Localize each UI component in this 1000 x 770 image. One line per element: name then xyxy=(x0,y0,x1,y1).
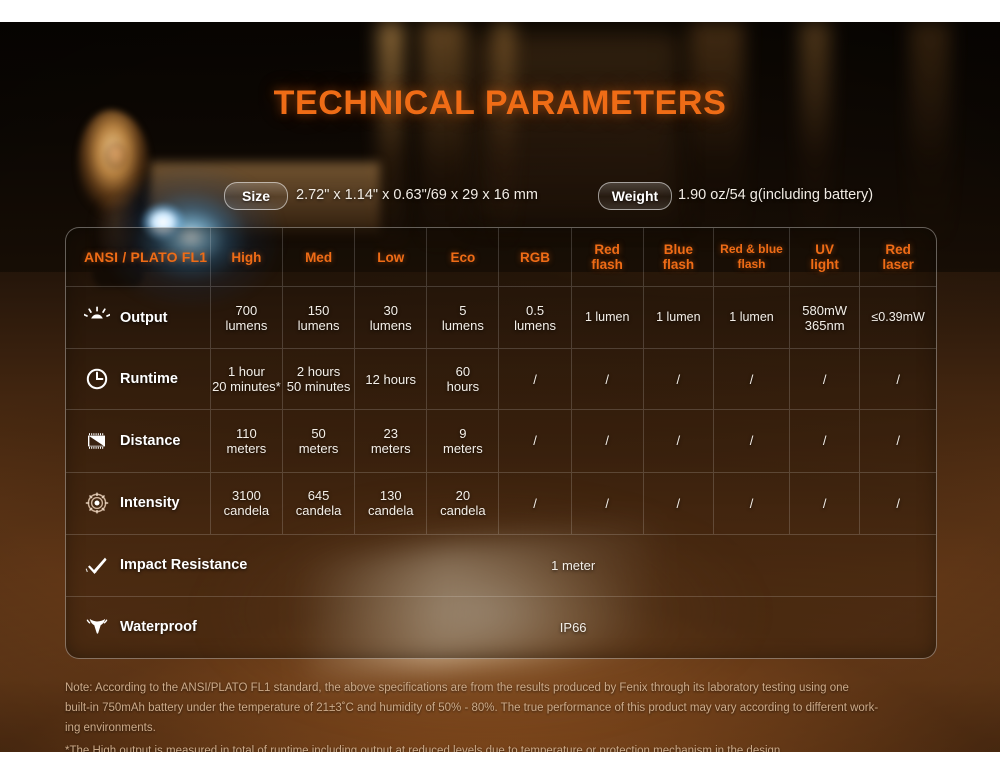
cell-runtime-red-laser: / xyxy=(860,349,936,410)
size-badge: Size xyxy=(224,182,288,210)
footnote: Note: According to the ANSI/PLATO FL1 st… xyxy=(65,678,945,752)
impact-check-icon xyxy=(84,553,110,577)
row-label-text: Waterproof xyxy=(120,619,197,635)
cell-intensity-red-flash: / xyxy=(571,472,643,534)
cell-runtime-med: 2 hours50 minutes xyxy=(282,349,354,410)
cell-intensity-med: 645candela xyxy=(282,472,354,534)
row-label-waterproof: Waterproof xyxy=(66,596,210,658)
row-label-impact-resistance: Impact Resistance xyxy=(66,534,210,596)
cell-runtime-red-flash: / xyxy=(571,349,643,410)
cell-distance-uv: / xyxy=(790,410,860,472)
table-row: Waterproof IP66 xyxy=(66,596,936,658)
cell-output-med: 150lumens xyxy=(282,287,354,349)
header-red-blue-flash: Red & blueflash xyxy=(713,228,789,287)
spec-summary-row: Size 2.72" x 1.14" x 0.63"/69 x 29 x 16 … xyxy=(0,182,1000,210)
cell-distance-blue-flash: / xyxy=(643,410,713,472)
cell-intensity-high: 3100candela xyxy=(210,472,282,534)
cell-output-eco: 5lumens xyxy=(427,287,499,349)
cell-runtime-blue-flash: / xyxy=(643,349,713,410)
clock-icon xyxy=(84,367,110,391)
cell-runtime-rgb: / xyxy=(499,349,571,410)
technical-parameters-table: ANSI / PLATO FL1 High Med Low Eco RGB Re… xyxy=(65,227,937,659)
row-label-runtime: Runtime xyxy=(66,349,210,410)
row-label-text: Impact Resistance xyxy=(120,557,247,573)
product-spec-banner: TECHNICAL PARAMETERS Size 2.72" x 1.14" … xyxy=(0,22,1000,752)
cell-intensity-uv: / xyxy=(790,472,860,534)
cell-distance-high: 110meters xyxy=(210,410,282,472)
footnote-line-4: *The High output is measured in total of… xyxy=(65,741,945,752)
cell-output-red-blue-flash: 1 lumen xyxy=(713,287,789,349)
cell-impact-resistance-value: 1 meter xyxy=(210,534,936,596)
cell-distance-red-laser: / xyxy=(860,410,936,472)
cell-distance-low: 23meters xyxy=(355,410,427,472)
header-eco: Eco xyxy=(427,228,499,287)
footnote-line-3: ing environments. xyxy=(65,718,945,738)
row-label-distance: Distance xyxy=(66,410,210,472)
cell-output-rgb: 0.5lumens xyxy=(499,287,571,349)
row-label-text: Runtime xyxy=(120,371,178,387)
table-row: Impact Resistance 1 meter xyxy=(66,534,936,596)
cell-runtime-low: 12 hours xyxy=(355,349,427,410)
cell-intensity-rgb: / xyxy=(499,472,571,534)
footnote-line-2: built-in 750mAh battery under the temper… xyxy=(65,698,945,718)
header-red-laser: Redlaser xyxy=(860,228,936,287)
cell-intensity-eco: 20candela xyxy=(427,472,499,534)
weight-badge: Weight xyxy=(598,182,672,210)
header-med: Med xyxy=(282,228,354,287)
cell-output-low: 30lumens xyxy=(355,287,427,349)
beam-distance-icon xyxy=(84,429,110,453)
table-row: Runtime 1 hour20 minutes* 2 hours50 minu… xyxy=(66,349,936,410)
size-value: 2.72" x 1.14" x 0.63"/69 x 29 x 16 mm xyxy=(296,184,538,206)
table-row: Output 700lumens 150lumens 30lumens 5lum… xyxy=(66,287,936,349)
cell-waterproof-value: IP66 xyxy=(210,596,936,658)
cell-runtime-red-blue-flash: / xyxy=(713,349,789,410)
cell-output-red-flash: 1 lumen xyxy=(571,287,643,349)
cell-runtime-uv: / xyxy=(790,349,860,410)
cell-intensity-red-laser: / xyxy=(860,472,936,534)
header-standard: ANSI / PLATO FL1 xyxy=(66,228,210,287)
cell-intensity-low: 130candela xyxy=(355,472,427,534)
cell-intensity-red-blue-flash: / xyxy=(713,472,789,534)
header-rgb: RGB xyxy=(499,228,571,287)
cell-distance-med: 50meters xyxy=(282,410,354,472)
row-label-output: Output xyxy=(66,287,210,349)
table-header-row: ANSI / PLATO FL1 High Med Low Eco RGB Re… xyxy=(66,228,936,287)
table-row: Distance 110meters 50meters 23meters 9me… xyxy=(66,410,936,472)
cell-output-uv: 580mW365nm xyxy=(790,287,860,349)
water-drop-icon xyxy=(84,615,110,639)
header-low: Low xyxy=(355,228,427,287)
cell-output-red-laser: ≤0.39mW xyxy=(860,287,936,349)
header-uv-light: UVlight xyxy=(790,228,860,287)
cell-intensity-blue-flash: / xyxy=(643,472,713,534)
cell-distance-eco: 9meters xyxy=(427,410,499,472)
spec-table: ANSI / PLATO FL1 High Med Low Eco RGB Re… xyxy=(66,228,936,658)
table-row: Intensity 3100candela 645candela 130cand… xyxy=(66,472,936,534)
cell-output-blue-flash: 1 lumen xyxy=(643,287,713,349)
cell-distance-red-blue-flash: / xyxy=(713,410,789,472)
cell-runtime-high: 1 hour20 minutes* xyxy=(210,349,282,410)
row-label-intensity: Intensity xyxy=(66,472,210,534)
header-high: High xyxy=(210,228,282,287)
sun-burst-icon xyxy=(84,306,110,330)
row-label-text: Output xyxy=(120,310,168,326)
cell-output-high: 700lumens xyxy=(210,287,282,349)
header-blue-flash: Blueflash xyxy=(643,228,713,287)
page-title: TECHNICAL PARAMETERS xyxy=(0,84,1000,123)
footnote-line-1: Note: According to the ANSI/PLATO FL1 st… xyxy=(65,678,945,698)
weight-value: 1.90 oz/54 g(including battery) xyxy=(678,184,873,206)
cell-runtime-eco: 60hours xyxy=(427,349,499,410)
cell-distance-red-flash: / xyxy=(571,410,643,472)
target-icon xyxy=(84,491,110,515)
cell-distance-rgb: / xyxy=(499,410,571,472)
header-red-flash: Redflash xyxy=(571,228,643,287)
row-label-text: Distance xyxy=(120,433,180,449)
row-label-text: Intensity xyxy=(120,495,180,511)
